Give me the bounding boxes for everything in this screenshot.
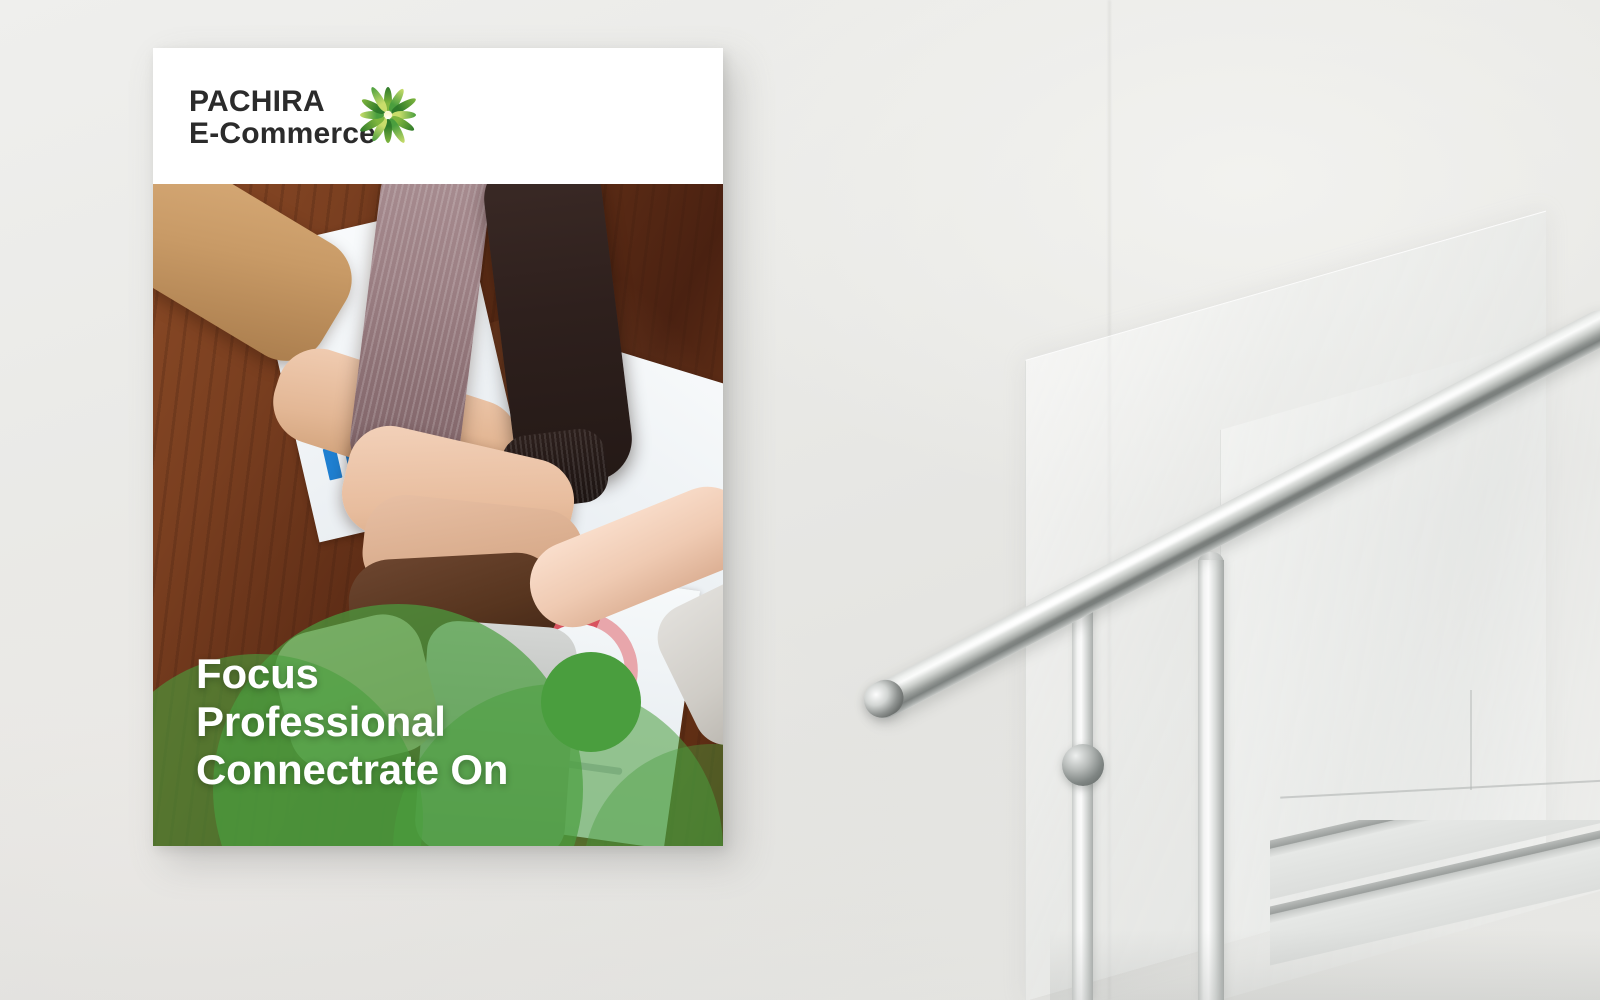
photo-scene: PACHIRA E-Commerce — [0, 0, 1600, 1000]
brochure-poster[interactable]: PACHIRA E-Commerce — [153, 48, 723, 846]
balustrade-area — [840, 0, 1600, 1000]
post-ball-fitting — [1062, 744, 1104, 786]
poster-photo: Focus Professional Connectrate On — [153, 184, 723, 846]
headline-line-3: Connectrate On — [196, 746, 666, 794]
flower-starburst-icon — [357, 88, 419, 150]
pachira-logo: PACHIRA E-Commerce — [189, 86, 419, 150]
tile-grout-line-vertical — [1470, 690, 1472, 790]
headline-line-2: Professional — [196, 698, 666, 746]
poster-headline: Focus Professional Connectrate On — [196, 650, 666, 794]
headline-line-1: Focus — [196, 650, 666, 698]
floor-shadow — [1050, 930, 1600, 1000]
poster-header-band: PACHIRA E-Commerce — [153, 48, 723, 184]
